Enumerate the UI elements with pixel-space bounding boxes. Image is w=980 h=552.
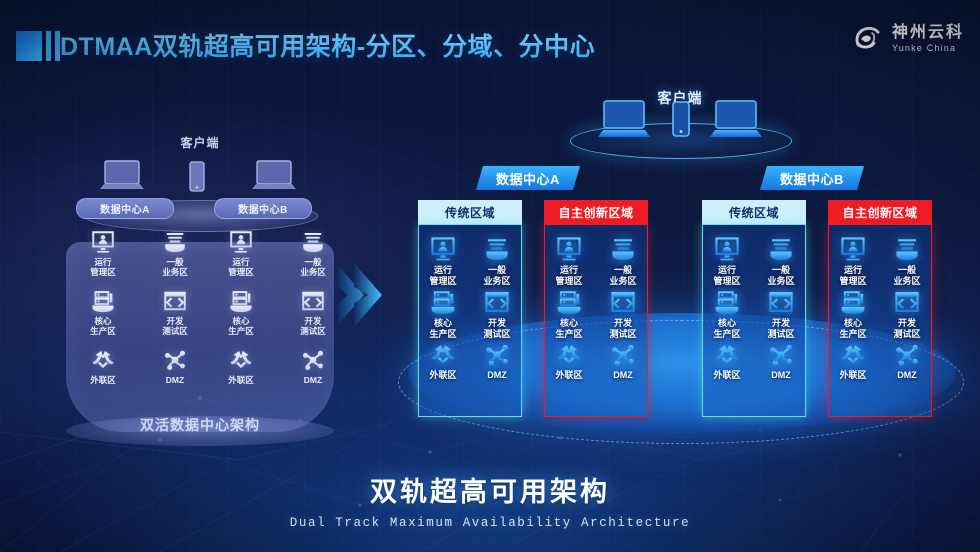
right-smartphone-icon (668, 100, 694, 144)
left-dc-a-label: 数据中心A (76, 198, 174, 219)
code-window-icon (758, 288, 804, 315)
server-core-icon (212, 287, 270, 313)
datacenter-a-tag: 数据中心A (476, 166, 580, 190)
left-client-label: 客户端 (60, 134, 340, 151)
branch-arrows-icon (830, 341, 876, 368)
legacy-architecture-diagram: 客户端 数据中心A 数据中心B 运行管理区一般业务区核心生产区开发测试区外联区D… (60, 120, 340, 450)
zone-label: 一般业务区 (884, 265, 930, 286)
zone-cell-1[interactable]: 运行管理区 (704, 235, 750, 286)
dc-b-panel-innovation[interactable]: 自主创新区域 运行管理区一般业务区核心生产区开发测试区外联区DMZ (828, 200, 932, 415)
branch-arrows-icon (546, 341, 592, 368)
zone-label: 开发测试区 (474, 318, 520, 339)
zone-cell-5[interactable]: 外联区 (830, 341, 876, 381)
left-zone-label: 开发测试区 (146, 316, 204, 336)
left-zone-1: 运行管理区 (74, 228, 132, 277)
zone-label: 开发测试区 (600, 318, 646, 339)
left-zone-1: 运行管理区 (212, 228, 270, 277)
code-window-icon (884, 288, 930, 315)
branch-arrows-icon (212, 346, 270, 372)
logo-text-cn: 神州云科 (892, 25, 964, 41)
zone-cell-2[interactable]: 一般业务区 (758, 235, 804, 286)
network-nodes-icon (600, 341, 646, 368)
zone-cell-2[interactable]: 一般业务区 (600, 235, 646, 286)
zone-label: 外联区 (830, 370, 876, 381)
zone-cell-1[interactable]: 运行管理区 (830, 235, 876, 286)
left-zone-6: DMZ (146, 346, 204, 385)
zone-label: 核心生产区 (546, 318, 592, 339)
zone-label: 一般业务区 (600, 265, 646, 286)
zone-cell-4[interactable]: 开发测试区 (758, 288, 804, 339)
server-core-icon (74, 287, 132, 313)
zone-label: 核心生产区 (420, 318, 466, 339)
zone-cell-1[interactable]: 运行管理区 (420, 235, 466, 286)
server-core-icon (546, 288, 592, 315)
zone-label: 外联区 (420, 370, 466, 381)
inbox-stack-icon (146, 228, 204, 254)
left-zone-label: DMZ (146, 375, 204, 385)
zone-label: DMZ (474, 370, 520, 381)
zone-label: 外联区 (546, 370, 592, 381)
branch-arrows-icon (704, 341, 750, 368)
footer-title-en: Dual Track Maximum Availability Architec… (0, 516, 980, 530)
galaxy-spiral-icon (850, 22, 884, 56)
inbox-stack-icon (474, 235, 520, 262)
zone-cell-4[interactable]: 开发测试区 (600, 288, 646, 339)
zone-cell-3[interactable]: 核心生产区 (830, 288, 876, 339)
zone-label: 运行管理区 (546, 265, 592, 286)
network-nodes-icon (884, 341, 930, 368)
zone-cell-6[interactable]: DMZ (758, 341, 804, 381)
left-zone-5: 外联区 (74, 346, 132, 385)
left-laptop-icon-2 (250, 158, 298, 198)
zone-grid: 运行管理区一般业务区核心生产区开发测试区外联区DMZ (419, 225, 521, 416)
brand-logo: 神州云科 Yunke China (850, 22, 964, 56)
monitor-user-icon (420, 235, 466, 262)
network-nodes-icon (758, 341, 804, 368)
left-dc-b-zone-grid: 运行管理区一般业务区核心生产区开发测试区外联区DMZ (212, 228, 342, 385)
zone-cell-5[interactable]: 外联区 (546, 341, 592, 381)
footer-title-block: 双轨超高可用架构 Dual Track Maximum Availability… (0, 470, 980, 530)
zone-cell-5[interactable]: 外联区 (704, 341, 750, 381)
zone-cell-5[interactable]: 外联区 (420, 341, 466, 381)
dc-b-panel-traditional-title: 传统区域 (702, 200, 806, 224)
zone-cell-3[interactable]: 核心生产区 (420, 288, 466, 339)
zone-cell-1[interactable]: 运行管理区 (546, 235, 592, 286)
server-core-icon (420, 288, 466, 315)
left-zone-label: DMZ (284, 375, 342, 385)
dc-b-panel-innovation-title: 自主创新区域 (828, 200, 932, 224)
network-nodes-icon (474, 341, 520, 368)
right-laptop-icon (596, 99, 652, 145)
left-zone-label: 运行管理区 (212, 257, 270, 277)
zone-grid: 运行管理区一般业务区核心生产区开发测试区外联区DMZ (703, 225, 805, 416)
left-zone-5: 外联区 (212, 346, 270, 385)
zone-label: DMZ (600, 370, 646, 381)
zone-cell-6[interactable]: DMZ (884, 341, 930, 381)
left-zone-4: 开发测试区 (146, 287, 204, 336)
zone-cell-2[interactable]: 一般业务区 (474, 235, 520, 286)
dc-a-panel-innovation[interactable]: 自主创新区域 运行管理区一般业务区核心生产区开发测试区外联区DMZ (544, 200, 648, 415)
slide-header: DTMAA双轨超高可用架构-分区、分域、分中心 神州云科 Yunke China (0, 0, 980, 86)
left-laptop-icon (98, 158, 146, 198)
zone-cell-6[interactable]: DMZ (474, 341, 520, 381)
double-chevron-right-icon (330, 255, 400, 335)
zone-cell-4[interactable]: 开发测试区 (884, 288, 930, 339)
code-window-icon (600, 288, 646, 315)
left-zone-label: 外联区 (212, 375, 270, 385)
dc-a-panel-traditional-title: 传统区域 (418, 200, 522, 224)
left-zone-label: 外联区 (74, 375, 132, 385)
header-accent-bars-icon (16, 31, 60, 61)
left-dc-b-label: 数据中心B (214, 198, 312, 219)
left-zone-3: 核心生产区 (212, 287, 270, 336)
zone-cell-3[interactable]: 核心生产区 (704, 288, 750, 339)
datacenter-b-tag: 数据中心B (760, 166, 864, 190)
zone-label: 开发测试区 (758, 318, 804, 339)
left-zone-2: 一般业务区 (146, 228, 204, 277)
zone-cell-3[interactable]: 核心生产区 (546, 288, 592, 339)
code-window-icon (474, 288, 520, 315)
monitor-user-icon (546, 235, 592, 262)
zone-label: 核心生产区 (704, 318, 750, 339)
footer-title-cn: 双轨超高可用架构 (0, 470, 980, 509)
logo-text-en: Yunke China (892, 44, 964, 53)
branch-arrows-icon (420, 341, 466, 368)
zone-cell-6[interactable]: DMZ (600, 341, 646, 381)
network-nodes-icon (284, 346, 342, 372)
zone-grid: 运行管理区一般业务区核心生产区开发测试区外联区DMZ (829, 225, 931, 416)
zone-label: 开发测试区 (884, 318, 930, 339)
branch-arrows-icon (74, 346, 132, 372)
slide-canvas: DTMAA双轨超高可用架构-分区、分域、分中心 神州云科 Yunke China… (0, 0, 980, 552)
zone-label: DMZ (884, 370, 930, 381)
zone-label: 外联区 (704, 370, 750, 381)
zone-label: 运行管理区 (830, 265, 876, 286)
dc-a-panel-traditional[interactable]: 传统区域 运行管理区一般业务区核心生产区开发测试区外联区DMZ (418, 200, 522, 415)
left-diagram-caption: 双活数据中心架构 (60, 415, 340, 435)
left-zone-label: 运行管理区 (74, 257, 132, 277)
left-dc-a-zone-grid: 运行管理区一般业务区核心生产区开发测试区外联区DMZ (74, 228, 204, 385)
zone-label: 运行管理区 (420, 265, 466, 286)
left-zone-label: 一般业务区 (146, 257, 204, 277)
monitor-user-icon (212, 228, 270, 254)
left-zone-label: 核心生产区 (212, 316, 270, 336)
dc-a-panel-innovation-title: 自主创新区域 (544, 200, 648, 224)
zone-label: 运行管理区 (704, 265, 750, 286)
left-zone-6: DMZ (284, 346, 342, 385)
zone-label: 核心生产区 (830, 318, 876, 339)
zone-label: DMZ (758, 370, 804, 381)
monitor-user-icon (74, 228, 132, 254)
left-zone-3: 核心生产区 (74, 287, 132, 336)
dc-b-panel-traditional[interactable]: 传统区域 运行管理区一般业务区核心生产区开发测试区外联区DMZ (702, 200, 806, 415)
server-core-icon (704, 288, 750, 315)
monitor-user-icon (830, 235, 876, 262)
zone-grid: 运行管理区一般业务区核心生产区开发测试区外联区DMZ (545, 225, 647, 416)
right-laptop-icon-2 (708, 99, 764, 145)
left-zone-label: 核心生产区 (74, 316, 132, 336)
code-window-icon (146, 287, 204, 313)
inbox-stack-icon (758, 235, 804, 262)
left-smartphone-icon (186, 160, 208, 198)
monitor-user-icon (704, 235, 750, 262)
inbox-stack-icon (884, 235, 930, 262)
network-nodes-icon (146, 346, 204, 372)
zone-cell-2[interactable]: 一般业务区 (884, 235, 930, 286)
zone-label: 一般业务区 (758, 265, 804, 286)
page-title: DTMAA双轨超高可用架构-分区、分域、分中心 (60, 27, 595, 63)
inbox-stack-icon (600, 235, 646, 262)
zone-label: 一般业务区 (474, 265, 520, 286)
zone-cell-4[interactable]: 开发测试区 (474, 288, 520, 339)
server-core-icon (830, 288, 876, 315)
inbox-stack-icon (284, 228, 342, 254)
dtmaa-architecture-diagram: 客户端 数据中心A 传统区域 运行管理区一般业务 (400, 88, 960, 468)
